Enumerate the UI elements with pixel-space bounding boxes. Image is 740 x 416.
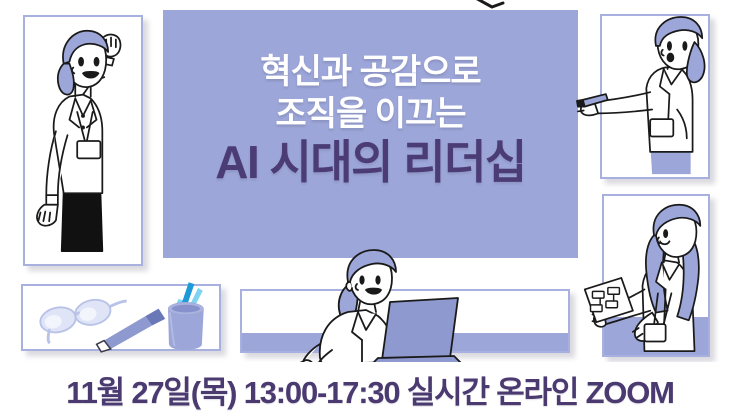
desk-stationery-illustration bbox=[23, 286, 219, 349]
pen-cup-icon bbox=[168, 282, 204, 350]
illustration-card-laptop-woman bbox=[240, 289, 570, 353]
illustration-card-cheering-woman bbox=[23, 15, 143, 266]
illustration-card-stationery bbox=[21, 284, 221, 351]
title-line-1: 혁신과 공감으로 bbox=[260, 54, 480, 91]
cheering-businesswoman-illustration bbox=[25, 17, 141, 264]
poster-canvas: 혁신과 공감으로 조직을 이끄는 AI 시대의 리더십 bbox=[0, 0, 740, 416]
title-line-3: AI 시대의 리더십 bbox=[215, 138, 525, 188]
title-lines: 혁신과 공감으로 조직을 이끄는 AI 시대의 리더십 bbox=[163, 10, 578, 258]
footer-text: 11월 27일(목) 13:00-17:30 실시간 온라인 ZOOM bbox=[66, 367, 674, 412]
woman-holding-document-illustration bbox=[604, 196, 708, 355]
footer-bar: 11월 27일(목) 13:00-17:30 실시간 온라인 ZOOM bbox=[0, 362, 740, 416]
illustration-card-pointing-woman bbox=[600, 14, 710, 179]
woman-pointing-with-pen-illustration bbox=[602, 16, 708, 177]
title-line-2: 조직을 이끄는 bbox=[275, 96, 465, 133]
title-block: 혁신과 공감으로 조직을 이끄는 AI 시대의 리더십 bbox=[163, 10, 578, 258]
card-floor-strip bbox=[242, 333, 568, 351]
illustration-card-document-woman bbox=[602, 194, 710, 357]
